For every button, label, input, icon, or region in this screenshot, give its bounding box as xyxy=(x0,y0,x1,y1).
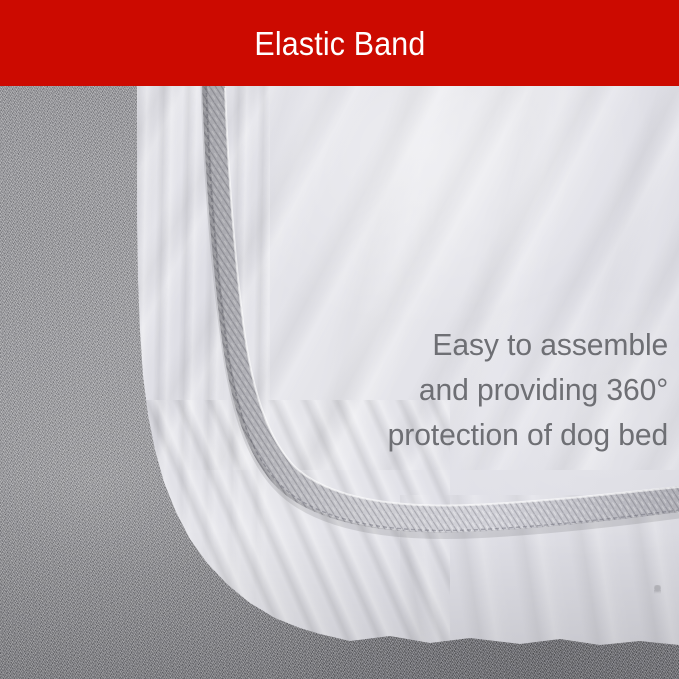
banner-title: Elastic Band xyxy=(254,27,425,60)
caption-line-1: Easy to assemble xyxy=(387,322,668,367)
fabric-speck xyxy=(654,585,661,594)
product-image: Easy to assemble and providing 360° prot… xyxy=(0,0,679,679)
caption-text: Easy to assemble and providing 360° prot… xyxy=(379,322,668,457)
header-banner: Elastic Band xyxy=(0,0,679,86)
caption-line-3: protection of dog bed xyxy=(387,412,668,457)
caption-line-2: and providing 360° xyxy=(387,367,668,412)
